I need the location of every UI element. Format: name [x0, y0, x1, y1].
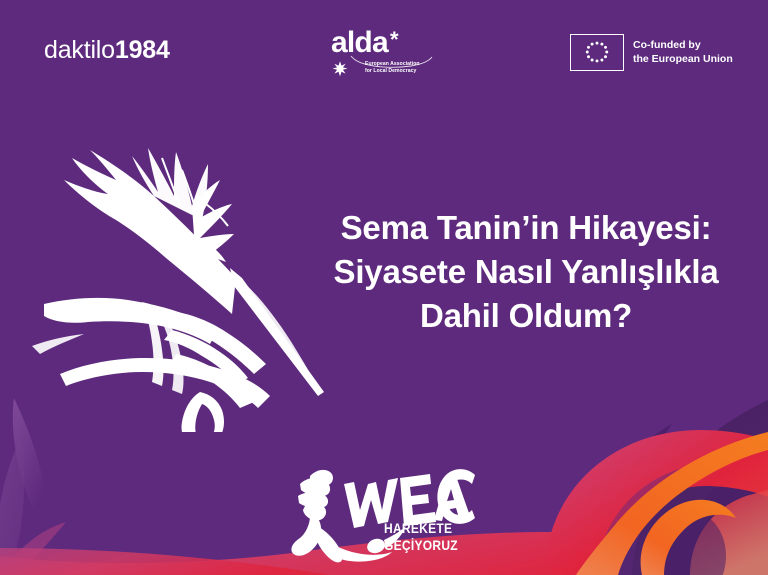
- poster-title: Sema Tanin’in Hikayesi: Siyasete Nasıl Y…: [300, 206, 752, 338]
- weact-subtitle-line1: HAREKETE: [384, 520, 458, 537]
- alda-wordmark: alda: [331, 28, 388, 58]
- alda-logo[interactable]: alda * European Association for Local De…: [331, 28, 441, 86]
- title-line-1: Sema Tanin’in Hikayesi:: [300, 206, 752, 250]
- eu-cofunded-text: Co-funded by the European Union: [633, 39, 733, 67]
- daktilo1984-logo[interactable]: daktilo1984: [44, 38, 170, 63]
- alda-subtitle-line2: for Local Democracy: [365, 68, 420, 75]
- alda-subtitle-line1: European Association: [365, 61, 420, 68]
- weact-subtitle-line2: GEÇİYORUZ: [384, 537, 458, 554]
- weact-logo[interactable]: HAREKETE GEÇİYORUZ: [288, 458, 478, 564]
- hand-writing-quill-illustration: [4, 92, 334, 432]
- eu-text-line2: the European Union: [633, 53, 733, 67]
- alda-subtitle: European Association for Local Democracy: [365, 61, 420, 75]
- daktilo-light-text: daktilo: [44, 36, 115, 64]
- alda-asterisk-icon: *: [390, 29, 399, 51]
- daktilo-bold-text: 1984: [115, 36, 170, 64]
- alda-flower-icon: [331, 60, 349, 78]
- weact-subtitle: HAREKETE GEÇİYORUZ: [384, 520, 458, 553]
- logo-bar: daktilo1984 alda * European Association …: [0, 0, 768, 100]
- poster-canvas: daktilo1984 alda * European Association …: [0, 0, 768, 575]
- title-line-2: Siyasete Nasıl Yanlışlıkla: [300, 250, 752, 294]
- eu-text-line1: Co-funded by: [633, 39, 733, 53]
- eu-cofunded-logo[interactable]: Co-funded by the European Union: [570, 34, 733, 71]
- european-union-flag-icon: [570, 34, 624, 71]
- title-line-3: Dahil Oldum?: [300, 294, 752, 338]
